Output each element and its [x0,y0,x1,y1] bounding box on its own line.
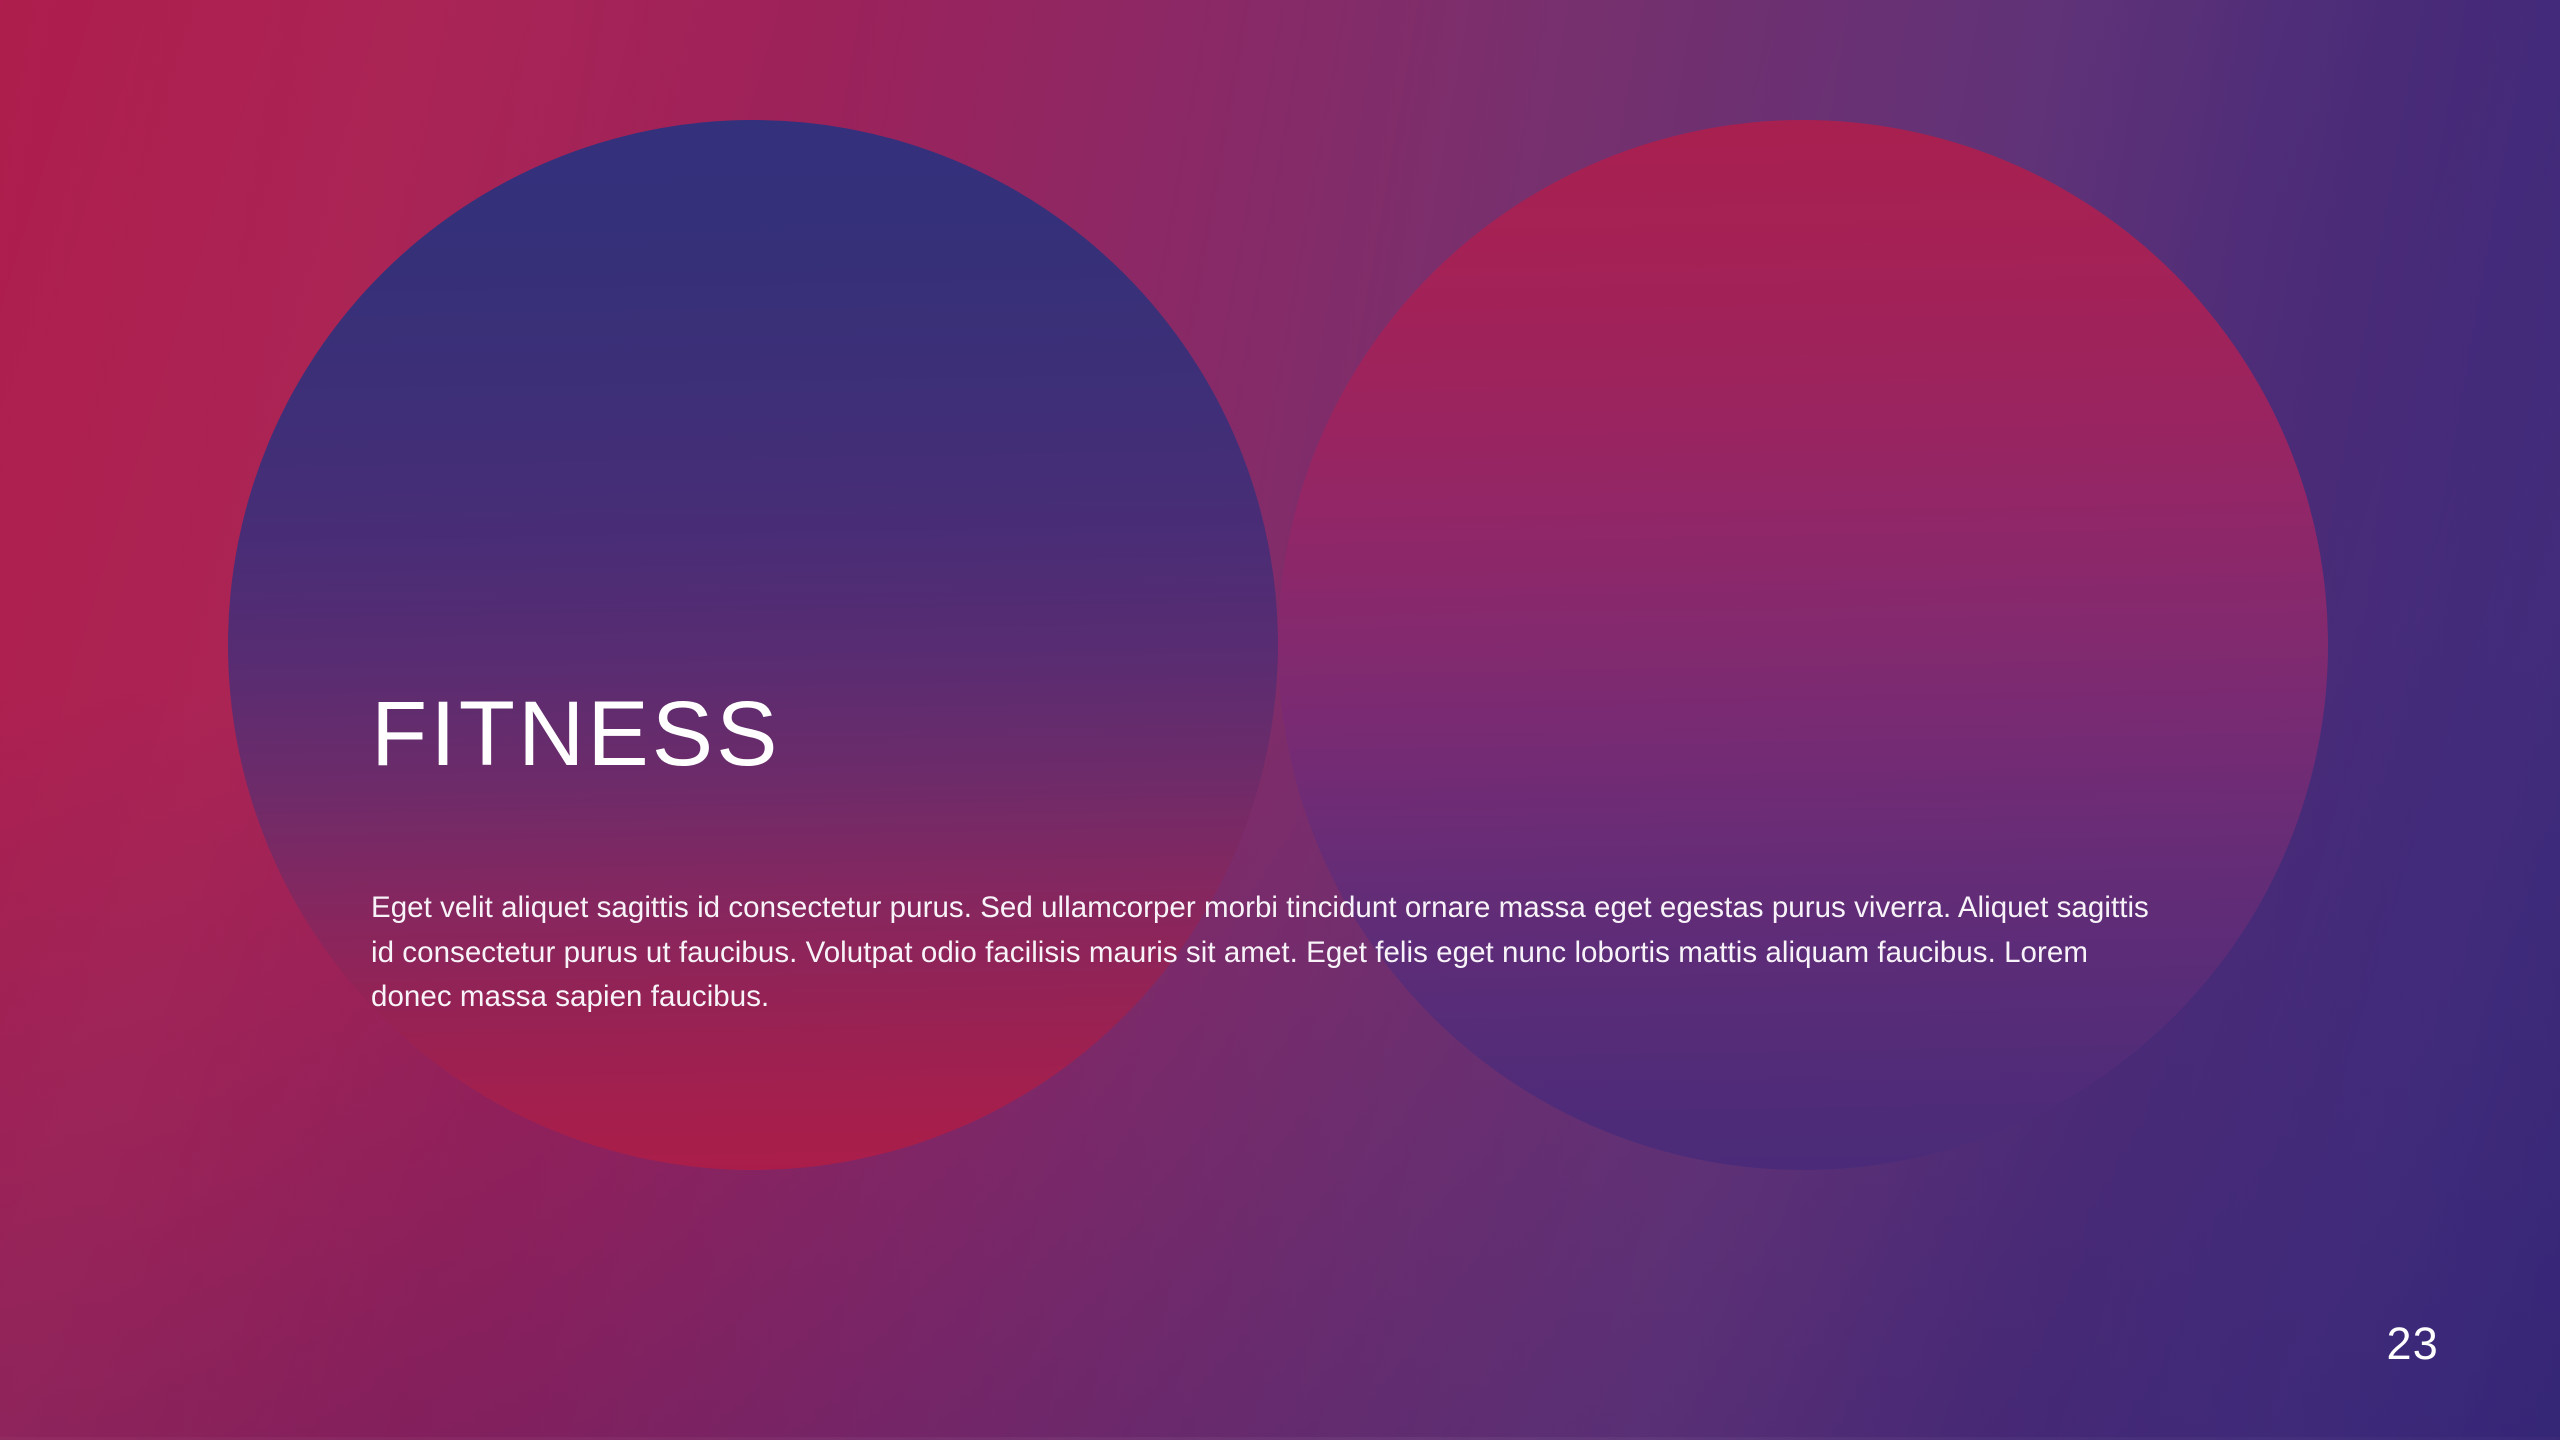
slide-canvas: FITNESS Eget velit aliquet sagittis id c… [0,0,2560,1440]
page-number: 23 [2387,1321,2439,1366]
body-paragraph: Eget velit aliquet sagittis id consectet… [371,886,2161,1020]
page-title: FITNESS [371,688,2161,782]
slide-content: FITNESS Eget velit aliquet sagittis id c… [371,688,2161,1020]
